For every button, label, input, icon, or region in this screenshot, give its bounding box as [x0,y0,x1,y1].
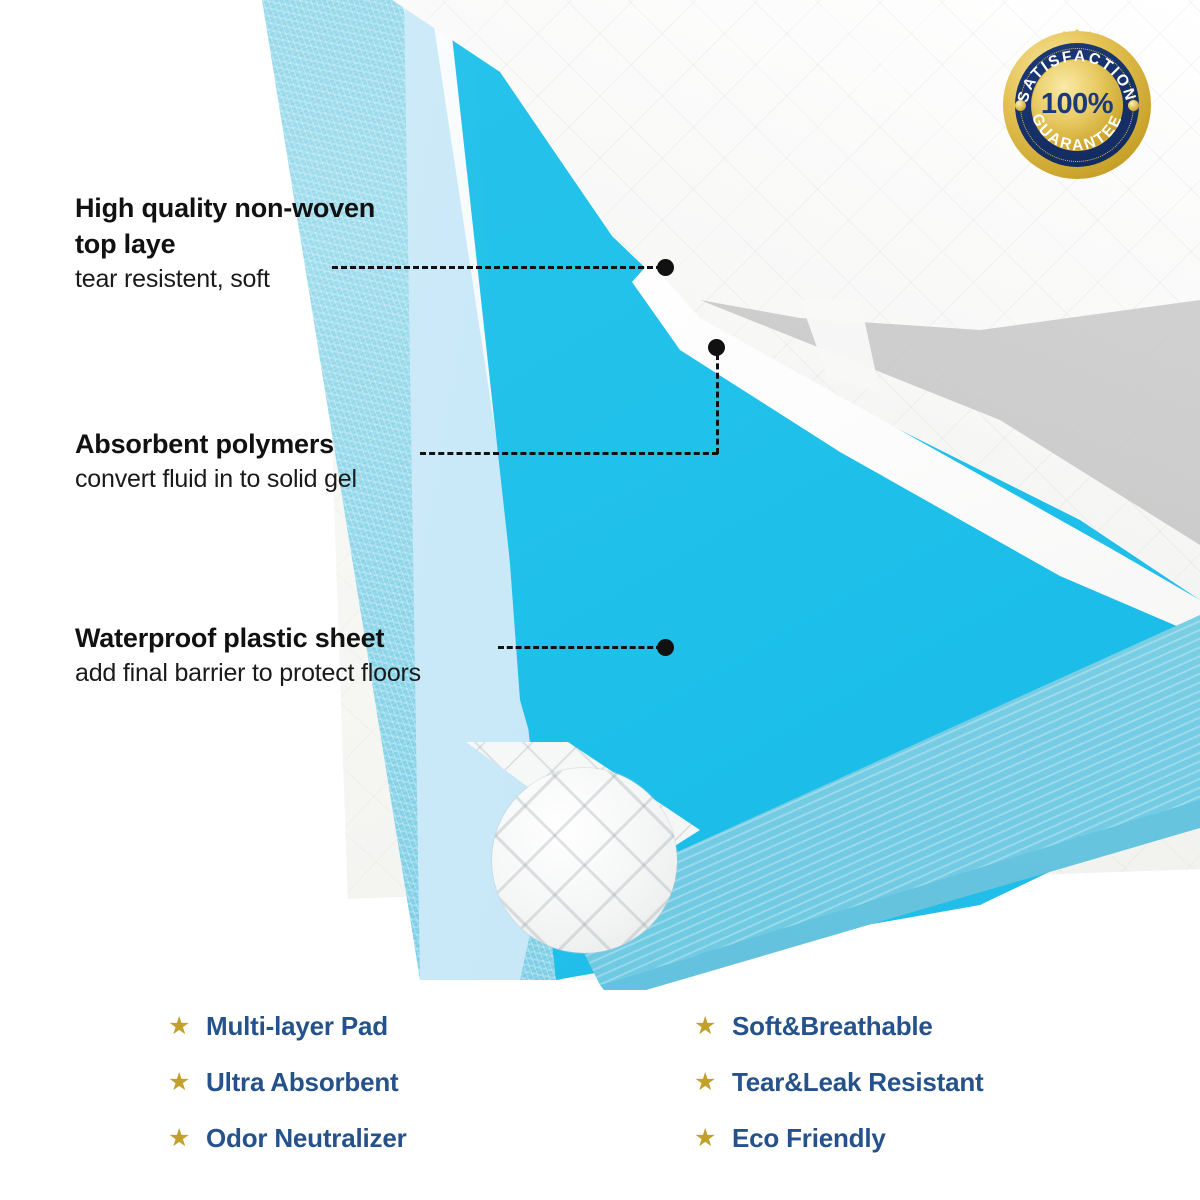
infographic-canvas: High quality non-woven top laye tear res… [0,0,1200,1200]
satisfaction-guarantee-badge: SATISFACTION GUARANTEE 100% [1001,29,1153,181]
callout-1-title: High quality non-woven top laye [75,190,405,262]
feature-column-left: ★ Multi-layer Pad ★ Ultra Absorbent ★ Od… [168,998,407,1166]
feature-item: ★ Tear&Leak Resistant [694,1054,984,1110]
star-icon: ★ [168,1014,206,1039]
feature-label: Odor Neutralizer [206,1123,407,1154]
star-icon: ★ [168,1070,206,1095]
callout-absorbent-polymers: Absorbent polymers convert fluid in to s… [75,426,505,496]
callout-non-woven-top-layer: High quality non-woven top laye tear res… [75,190,405,296]
star-icon: ★ [168,1126,206,1151]
feature-label: Ultra Absorbent [206,1067,399,1098]
callout-1-subtitle: tear resistent, soft [75,262,405,296]
feature-item: ★ Odor Neutralizer [168,1110,407,1166]
feature-item: ★ Ultra Absorbent [168,1054,407,1110]
star-icon: ★ [694,1070,732,1095]
badge-percent-label: 100% [1001,88,1153,121]
magnified-core-detail-circle [492,768,677,953]
callout-2-title: Absorbent polymers [75,426,505,462]
star-icon: ★ [694,1014,732,1039]
feature-label: Eco Friendly [732,1123,886,1154]
feature-label: Multi-layer Pad [206,1011,388,1042]
feature-label: Tear&Leak Resistant [732,1067,984,1098]
feature-item: ★ Eco Friendly [694,1110,984,1166]
feature-item: ★ Soft&Breathable [694,998,984,1054]
callout-3-title: Waterproof plastic sheet [75,620,515,656]
callout-3-subtitle: add final barrier to protect floors [75,656,515,690]
feature-column-right: ★ Soft&Breathable ★ Tear&Leak Resistant … [694,998,984,1166]
star-icon: ★ [694,1126,732,1151]
callout-2-subtitle: convert fluid in to solid gel [75,462,505,496]
callout-waterproof-plastic-sheet: Waterproof plastic sheet add final barri… [75,620,515,690]
feature-item: ★ Multi-layer Pad [168,998,407,1054]
feature-list: ★ Multi-layer Pad ★ Ultra Absorbent ★ Od… [0,998,1200,1178]
feature-label: Soft&Breathable [732,1011,933,1042]
